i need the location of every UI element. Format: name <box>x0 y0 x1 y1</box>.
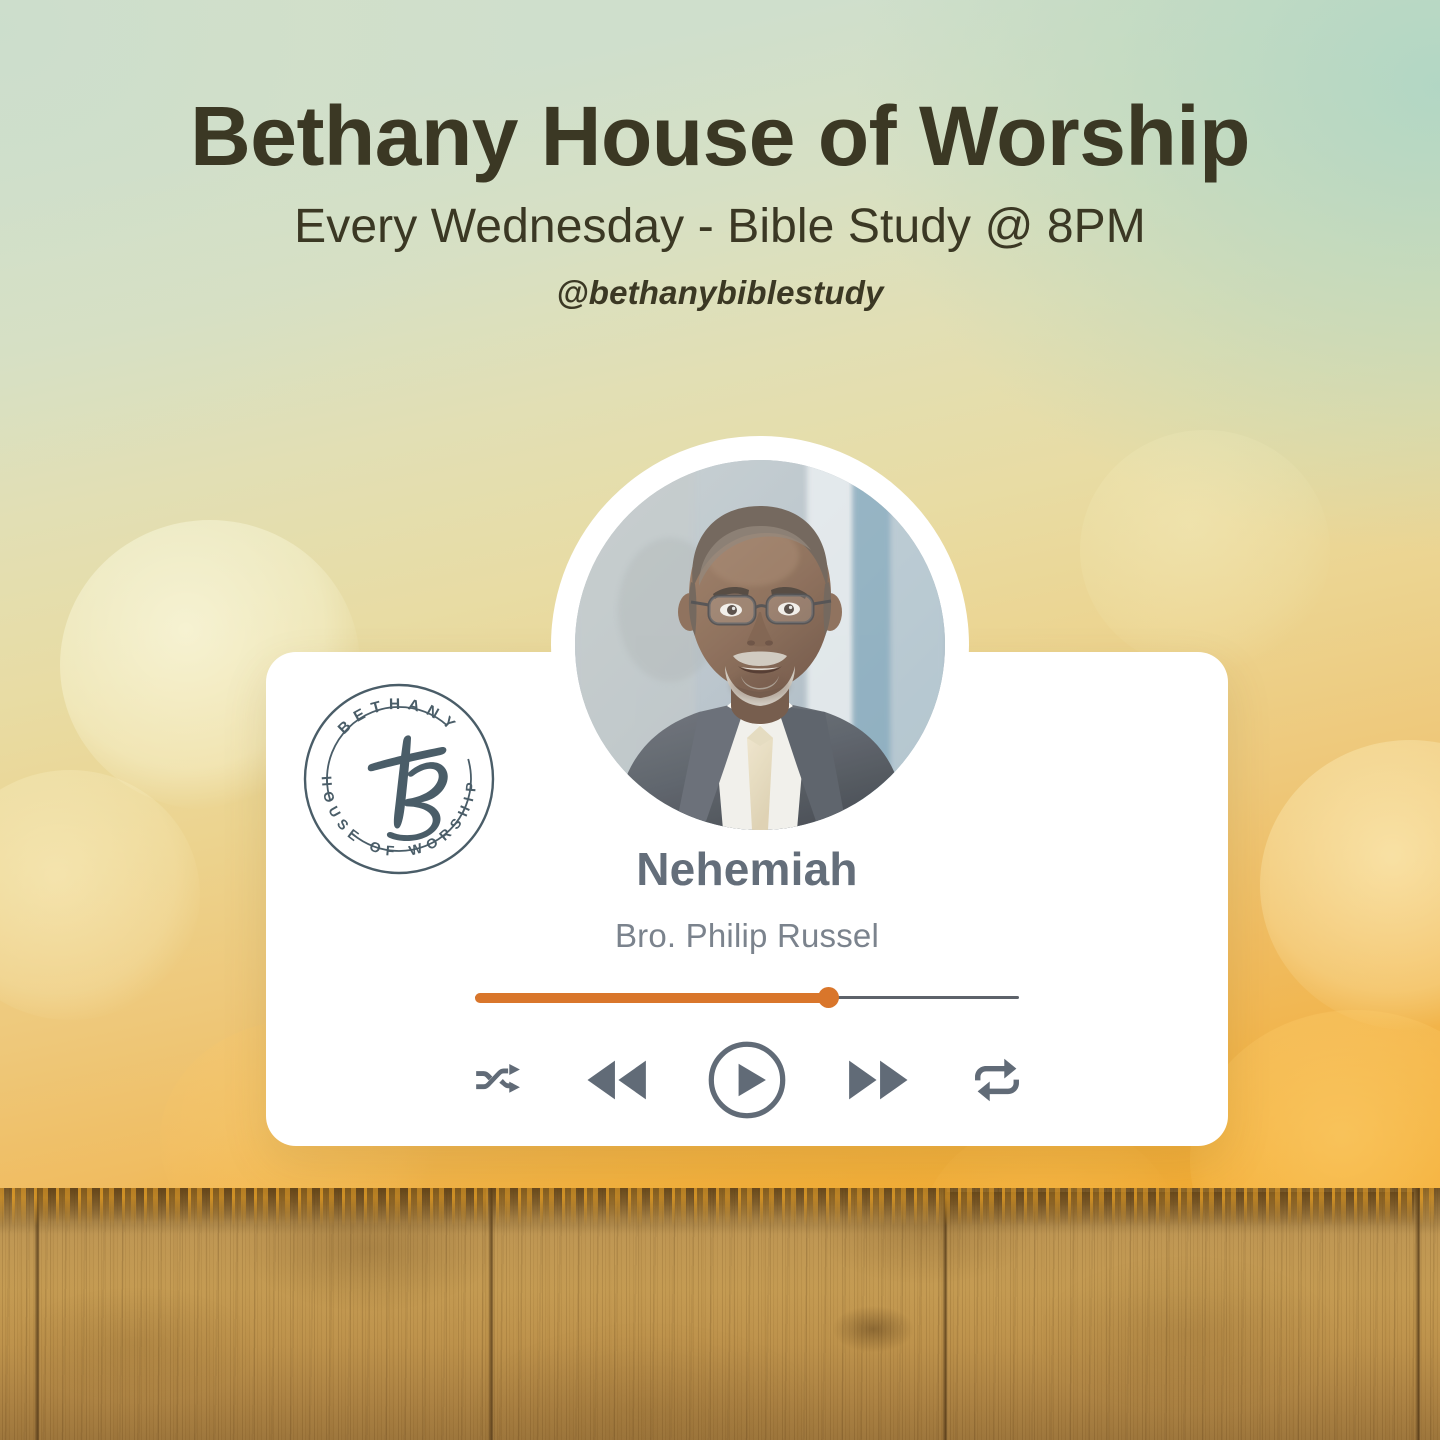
page-subtitle: Every Wednesday - Bible Study @ 8PM <box>0 199 1440 254</box>
play-icon <box>705 1038 789 1122</box>
page-title: Bethany House of Worship <box>0 92 1440 181</box>
rewind-button[interactable] <box>579 1049 655 1111</box>
track-title: Nehemiah <box>266 842 1228 896</box>
player-controls <box>466 1037 1028 1123</box>
shuffle-icon <box>472 1055 522 1105</box>
rewind-icon <box>584 1057 650 1103</box>
logo-monogram-icon <box>368 735 448 841</box>
shuffle-button[interactable] <box>466 1049 528 1111</box>
avatar-photo <box>575 460 945 830</box>
repeat-button[interactable] <box>966 1049 1028 1111</box>
logo-top-text: BETHANY <box>335 696 463 738</box>
avatar <box>563 448 957 842</box>
track-artist: Bro. Philip Russel <box>266 917 1228 955</box>
forward-button[interactable] <box>840 1049 916 1111</box>
wood-ragged-edge <box>0 1188 1440 1226</box>
poster-canvas: Bethany House of Worship Every Wednesday… <box>0 0 1440 1440</box>
progress-handle[interactable] <box>818 987 839 1008</box>
social-handle: @bethanybiblestudy <box>0 274 1440 312</box>
play-button[interactable] <box>705 1038 789 1122</box>
repeat-icon <box>972 1055 1022 1105</box>
poster-header: Bethany House of Worship Every Wednesday… <box>0 92 1440 312</box>
svg-text:BETHANY: BETHANY <box>335 696 463 738</box>
fast-forward-icon <box>845 1057 911 1103</box>
progress-slider[interactable] <box>475 987 1019 1009</box>
progress-fill <box>475 993 829 1003</box>
wood-table-surface <box>0 1188 1440 1440</box>
